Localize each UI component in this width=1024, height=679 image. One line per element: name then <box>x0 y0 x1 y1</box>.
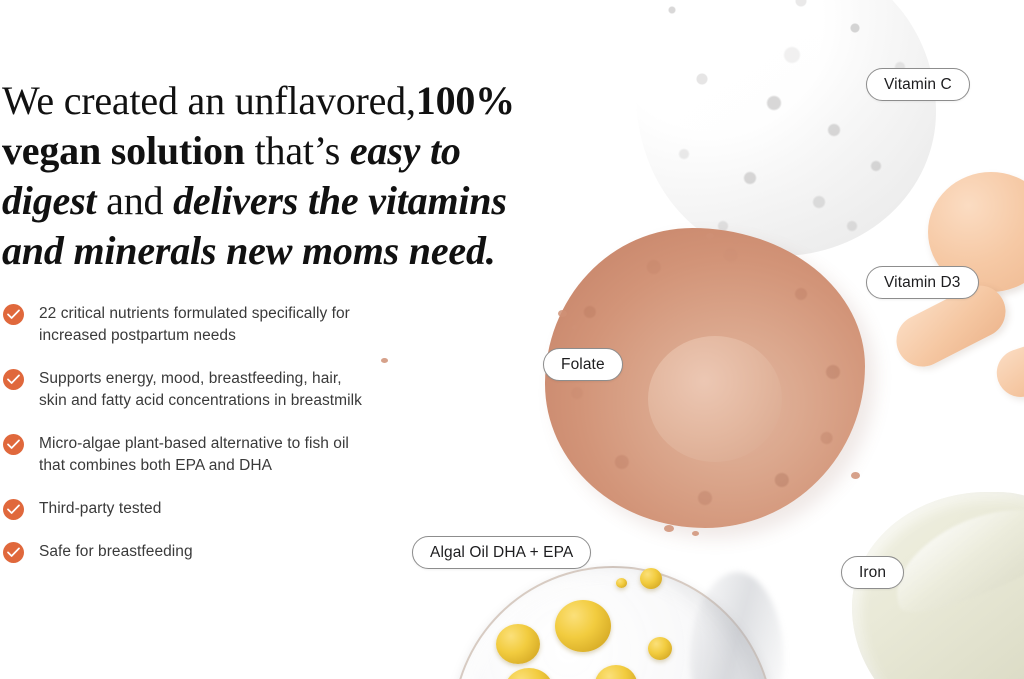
folate-powder-crater <box>648 336 782 462</box>
check-circle-icon <box>3 304 24 325</box>
callout-pill-iron[interactable]: Iron <box>841 556 904 589</box>
powder-crumb <box>692 531 699 536</box>
list-item-label: 22 critical nutrients formulated specifi… <box>39 303 500 347</box>
powder-crumb <box>572 325 578 330</box>
headline-segment-8: delivers the vitamins <box>173 178 507 223</box>
list-item-label: Third-party tested <box>39 498 500 520</box>
check-circle-icon <box>3 434 24 455</box>
list-item: 22 critical nutrients formulated specifi… <box>0 303 500 347</box>
headline-segment-5: easy to <box>350 128 461 173</box>
list-item: Supports energy, mood, breastfeeding, ha… <box>0 368 500 412</box>
callout-pill-vitamin-d3[interactable]: Vitamin D3 <box>866 266 979 299</box>
headline-segment-3: vegan solution <box>2 128 245 173</box>
oil-droplet <box>555 600 611 652</box>
headline-segment-9: and minerals new moms need. <box>2 228 496 273</box>
vitamin-c-powder-texture <box>636 0 936 256</box>
list-item-label: Supports energy, mood, breastfeeding, ha… <box>39 368 500 412</box>
check-circle-icon <box>3 542 24 563</box>
oil-droplet <box>648 637 672 660</box>
powder-crumb <box>706 233 714 239</box>
headline-segment-2: 100% <box>416 78 515 123</box>
petri-dish-highlight <box>690 572 784 679</box>
list-item: Micro-algae plant-based alternative to f… <box>0 433 500 477</box>
list-item-label: Micro-algae plant-based alternative to f… <box>39 433 500 477</box>
powder-crumb <box>558 310 567 317</box>
headline-segment-7: and <box>96 178 173 223</box>
check-circle-icon <box>3 499 24 520</box>
powder-crumb <box>733 240 738 244</box>
check-circle-icon <box>3 369 24 390</box>
copy-column: We created an unflavored,100% vegan solu… <box>0 0 520 679</box>
callout-pill-vitamin-c[interactable]: Vitamin C <box>866 68 970 101</box>
oil-droplet <box>640 568 662 589</box>
callout-pill-algal-oil[interactable]: Algal Oil DHA + EPA <box>412 536 591 569</box>
list-item: Third-party tested <box>0 498 500 520</box>
oil-droplet <box>616 578 627 588</box>
powder-crumb <box>664 525 674 532</box>
callout-pill-folate[interactable]: Folate <box>543 348 623 381</box>
headline-segment-1: We created an unflavored, <box>2 78 416 123</box>
headline-segment-6: digest <box>2 178 96 223</box>
vitamin-d3-softgel-capsule-b <box>991 333 1024 403</box>
headline-segment-4: that’s <box>245 128 350 173</box>
product-benefits-panel: We created an unflavored,100% vegan solu… <box>0 0 1024 679</box>
powder-crumb <box>851 472 860 479</box>
headline: We created an unflavored,100% vegan solu… <box>2 76 518 276</box>
